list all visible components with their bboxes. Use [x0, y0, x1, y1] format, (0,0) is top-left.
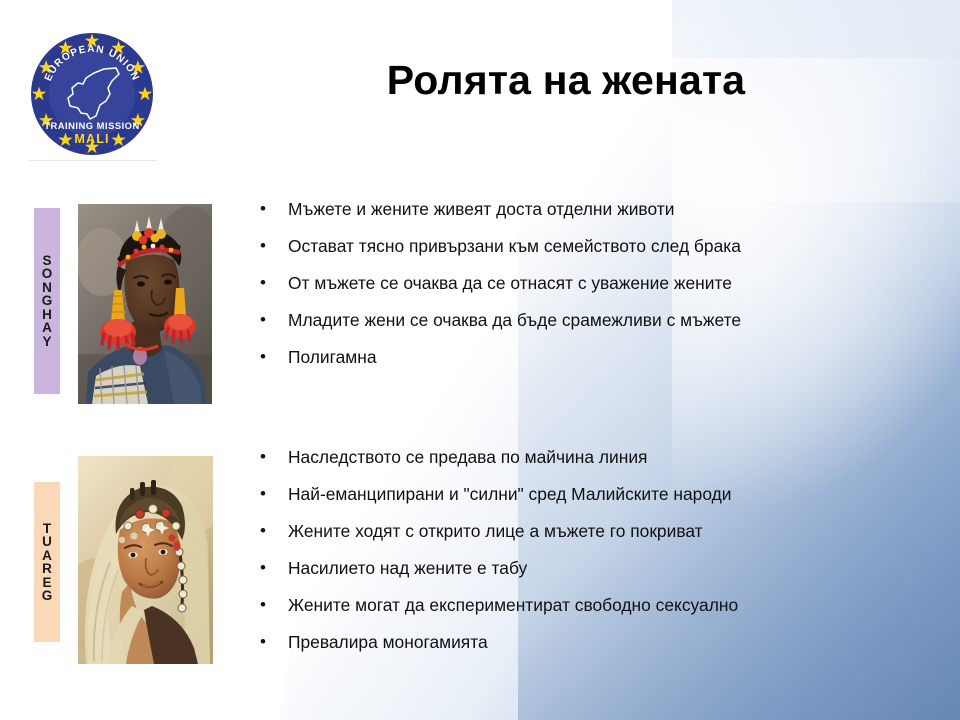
tab-letter: R — [42, 562, 52, 576]
bullet-text: Превалира моногамията — [288, 632, 900, 652]
slide-title: Ролята на жената — [246, 58, 886, 102]
group-tab-tuareg: T U A R E G — [34, 482, 60, 642]
bullet-item: • Остават тясно привързани към семейство… — [260, 236, 900, 273]
bullet-text: Младите жени се очаква да бъде срамежлив… — [288, 310, 900, 330]
bullet-item: • Жените могат да експериментират свобод… — [260, 595, 900, 632]
bullet-marker-icon: • — [260, 521, 288, 541]
bullet-item: • Насилието над жените е табу — [260, 558, 900, 595]
eu-training-mission-mali-logo: EUROPEAN UNION TRAINING MISSION MALI — [26, 22, 158, 162]
bullet-marker-icon: • — [260, 447, 288, 467]
bullet-text: Насилието над жените е табу — [288, 558, 900, 578]
bullet-text: Мъжете и жените живеят доста отделни жив… — [288, 199, 900, 219]
bullet-marker-icon: • — [260, 595, 288, 615]
bullet-text: Наследството се предава по майчина линия — [288, 447, 900, 467]
bullet-item: • От мъжете се очаква да се отнасят с ув… — [260, 273, 900, 310]
bullet-item: • Наследството се предава по майчина лин… — [260, 447, 900, 484]
bullet-text: Най-еманципирани и "силни" сред Малийски… — [288, 484, 900, 504]
tab-letter: A — [42, 321, 52, 335]
bullet-item: • Мъжете и жените живеят доста отделни ж… — [260, 199, 900, 236]
slide-canvas: EUROPEAN UNION TRAINING MISSION MALI Рол… — [0, 0, 960, 720]
bullet-list-tuareg: • Наследството се предава по майчина лин… — [260, 447, 900, 669]
bullet-marker-icon: • — [260, 199, 288, 219]
bullet-item: • Полигамна — [260, 347, 900, 384]
photo-songhay-woman — [78, 204, 212, 404]
tab-letter: U — [42, 535, 52, 549]
bullet-text: Полигамна — [288, 347, 900, 367]
tab-letter: G — [42, 589, 53, 603]
tab-letter: Y — [42, 335, 51, 349]
bullet-marker-icon: • — [260, 347, 288, 367]
bullet-text: Жените ходят с открито лице а мъжете го … — [288, 521, 900, 541]
bullet-marker-icon: • — [260, 273, 288, 293]
bullet-item: • Младите жени се очаква да бъде срамежл… — [260, 310, 900, 347]
logo-underline-divider — [29, 160, 157, 161]
tab-letter: N — [42, 281, 52, 295]
tab-letter: E — [42, 576, 51, 590]
bullet-item: • Превалира моногамията — [260, 632, 900, 669]
bullet-marker-icon: • — [260, 310, 288, 330]
tab-letter: S — [42, 254, 51, 268]
tab-letter: G — [42, 294, 53, 308]
bullet-list-songhay: • Мъжете и жените живеят доста отделни ж… — [260, 199, 900, 384]
bullet-text: Жените могат да експериментират свободно… — [288, 595, 900, 615]
logo-line-2: MALI — [74, 132, 109, 146]
bullet-item: • Най-еманципирани и "силни" сред Малийс… — [260, 484, 900, 521]
bullet-text: От мъжете се очаква да се отнасят с уваж… — [288, 273, 900, 293]
tab-letter: O — [42, 267, 53, 281]
tab-letter: A — [42, 549, 52, 563]
bullet-item: • Жените ходят с открито лице а мъжете г… — [260, 521, 900, 558]
group-tab-songhay: S O N G H A Y — [34, 208, 60, 394]
photo-tuareg-woman — [78, 456, 213, 664]
logo-line-1: TRAINING MISSION — [44, 120, 140, 131]
tab-letter: H — [42, 308, 52, 322]
tab-letter: T — [43, 522, 51, 536]
bullet-text: Остават тясно привързани към семейството… — [288, 236, 900, 256]
bullet-marker-icon: • — [260, 558, 288, 578]
bullet-marker-icon: • — [260, 632, 288, 652]
bullet-marker-icon: • — [260, 236, 288, 256]
bullet-marker-icon: • — [260, 484, 288, 504]
